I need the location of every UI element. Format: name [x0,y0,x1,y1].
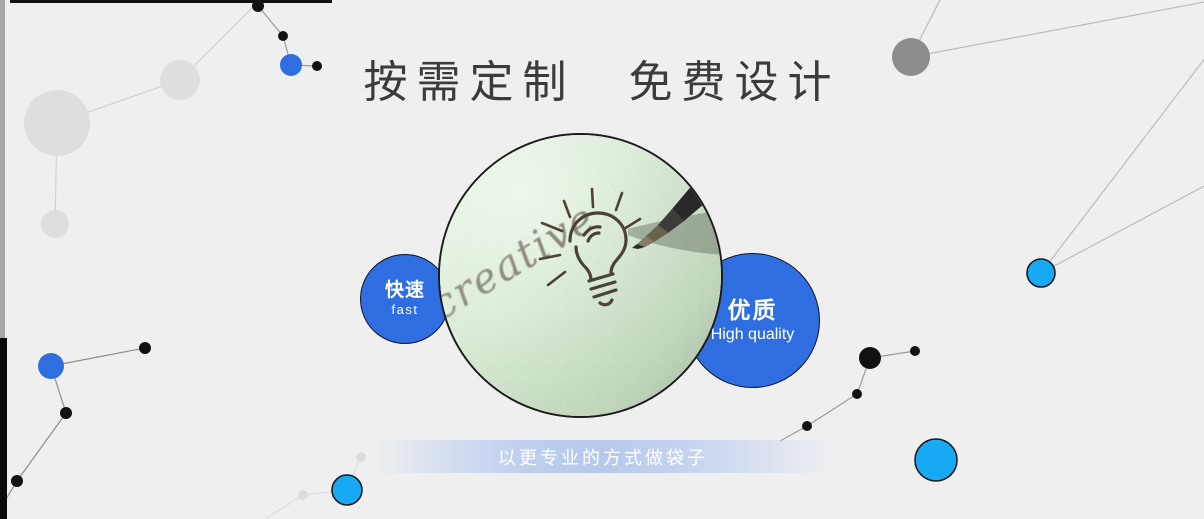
node-blue-left-mid [38,353,64,379]
node-black-left-c [11,475,23,487]
node-black-top-b [278,31,288,41]
node-gray-bl-b [356,452,366,462]
network-link [347,457,361,490]
hero-cluster: 快速 fast 优质 High quality creative [352,130,827,425]
tagline-banner: 以更专业的方式做袋子 [372,440,834,473]
node-black-left-b [60,407,72,419]
page-title: 按需定制 免费设计 [0,46,1204,110]
node-black-br-b [910,346,920,356]
feature-bubble-quality-en: High quality [711,326,795,344]
network-link [1041,183,1204,273]
network-link [51,348,145,366]
network-link [857,358,870,394]
top-edge-rule [10,0,332,3]
tagline-text: 以更专业的方式做袋子 [498,444,708,470]
node-cyan-right [1027,259,1055,287]
network-link [55,123,57,224]
network-link [265,495,303,519]
creative-photo-circle: creative [438,133,723,418]
feature-bubble-fast-en: fast [392,303,419,318]
network-link [303,490,347,495]
network-link [258,6,283,36]
node-black-br-a [859,347,881,369]
promo-banner-stage: 按需定制 免费设计 快速 fast 优质 High quality creati… [0,0,1204,519]
node-cyan-bottom-right [915,439,957,481]
network-link [51,366,66,413]
node-gray-small-left [41,210,69,238]
feature-bubble-fast[interactable]: 快速 fast [360,254,450,344]
network-link [870,351,915,358]
network-link [780,426,807,441]
node-black-left-a [139,342,151,354]
node-cyan-bottom-left [332,475,362,505]
paper-lighting-overlay [440,135,721,416]
left-edge-black-strip [0,338,7,519]
creative-photo-inner: creative [440,135,721,416]
feature-bubble-quality-cn: 优质 [728,297,778,323]
node-gray-bl-a [298,490,308,500]
node-black-br-c [852,389,862,399]
feature-bubble-fast-cn: 快速 [385,280,425,302]
network-link [17,413,66,481]
